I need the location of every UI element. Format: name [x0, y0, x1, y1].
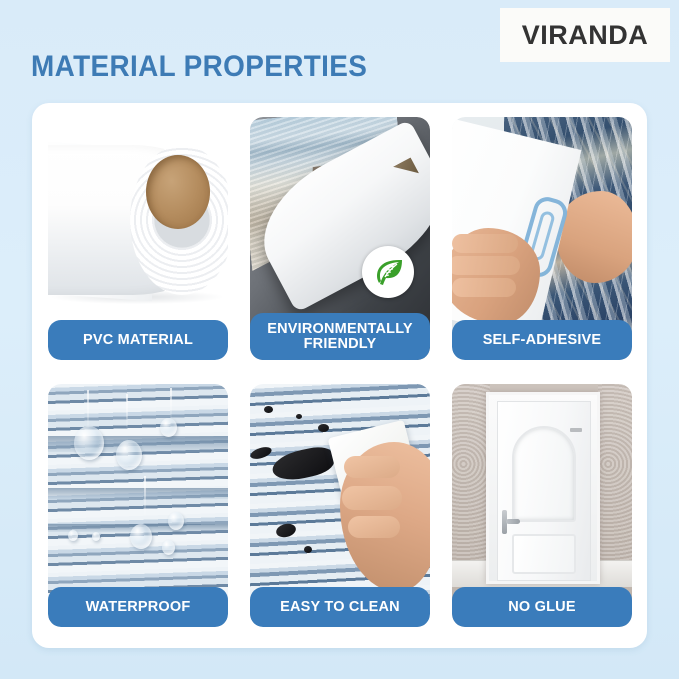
feature-card-easy-to-clean[interactable]: EASY TO CLEAN	[250, 384, 430, 627]
feature-grid: PVC MATERIAL ENVIRONMENTALLY FR	[48, 117, 632, 627]
feature-card-environmentally-friendly[interactable]: ENVIRONMENTALLY FRIENDLY	[250, 117, 430, 360]
infographic-page: VIRANDA MATERIAL PROPERTIES PVC MATERIAL	[0, 0, 679, 679]
feature-card-label: NO GLUE	[452, 587, 632, 627]
brand-logo: VIRANDA	[500, 8, 670, 62]
feature-card-self-adhesive[interactable]: SELF-ADHESIVE	[452, 117, 632, 360]
feature-card-label: PVC MATERIAL	[48, 320, 228, 360]
feature-card-no-glue[interactable]: NO GLUE	[452, 384, 632, 627]
feature-card-label: ENVIRONMENTALLY FRIENDLY	[250, 313, 430, 360]
feature-card-pvc-material[interactable]: PVC MATERIAL	[48, 117, 228, 360]
feature-card-label-text: ENVIRONMENTALLY FRIENDLY	[254, 322, 426, 352]
leaf-icon	[362, 246, 414, 298]
brand-name: VIRANDA	[522, 20, 649, 51]
feature-card-label: SELF-ADHESIVE	[452, 320, 632, 360]
feature-card-waterproof[interactable]: WATERPROOF	[48, 384, 228, 627]
page-title: MATERIAL PROPERTIES	[31, 50, 367, 84]
feature-card-label: WATERPROOF	[48, 587, 228, 627]
feature-card-label: EASY TO CLEAN	[250, 587, 430, 627]
